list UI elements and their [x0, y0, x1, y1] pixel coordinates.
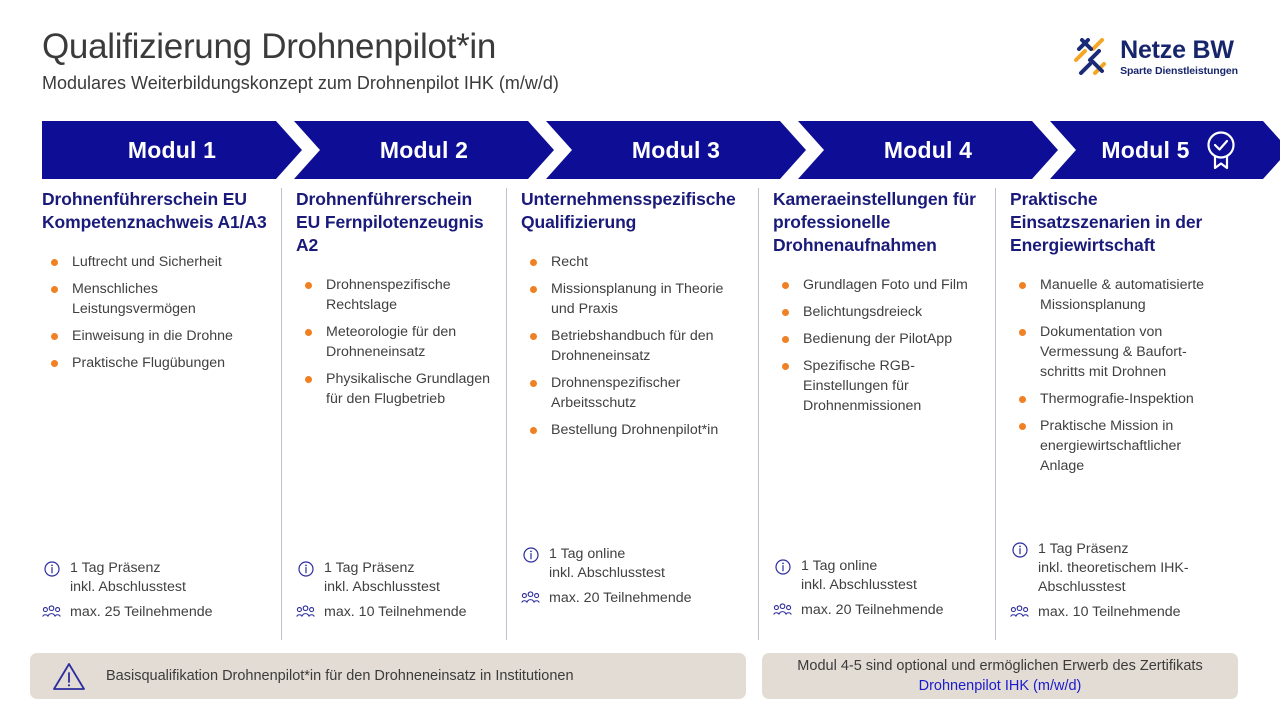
- people-group-icon: [773, 601, 792, 617]
- module-column-3: Unternehmensspezifische Qualifizierung R…: [506, 188, 758, 640]
- info-circle-icon: [521, 545, 540, 563]
- people-group-icon: [1010, 603, 1029, 619]
- list-item: Praktische Flugübungen: [42, 353, 267, 373]
- list-item: Bestellung Drohnenpilot*in: [521, 420, 744, 440]
- chevron-step-4-label: Modul 4: [884, 137, 972, 164]
- page-header: Qualifizierung Drohnenpilot*in Modulares…: [42, 26, 559, 95]
- chevron-step-2[interactable]: Modul 2: [294, 121, 554, 179]
- list-item: Grundlagen Foto und Film: [773, 275, 981, 295]
- module-column-5-topics: Manuelle & automatisierte Missionsplanun…: [1010, 275, 1224, 476]
- module-column-1-heading: Drohnenführerschein EU Kompetenznachweis…: [42, 188, 267, 234]
- participants-text: max. 20 Teilnehmende: [549, 589, 692, 608]
- module-columns: Drohnenführerschein EU Kompetenznachweis…: [42, 188, 1238, 640]
- list-item: Dokumentation von Vermessung & Baufort-s…: [1010, 322, 1224, 382]
- chevron-step-5-label: Modul 5: [1101, 137, 1189, 164]
- duration-row: 1 Tag Präsenz inkl. Abschlusstest: [42, 559, 267, 597]
- people-group-icon: [42, 603, 61, 619]
- list-item: Missionsplanung in Theorie und Praxis: [521, 279, 744, 319]
- info-circle-icon: [1010, 540, 1029, 558]
- list-item: Belichtungsdreieck: [773, 302, 981, 322]
- brand-logo: Netze BW Sparte Dienstleistungen: [1073, 38, 1238, 77]
- footer-right-text: Modul 4-5 sind optional und ermöglichen …: [762, 656, 1238, 696]
- chevron-step-4[interactable]: Modul 4: [798, 121, 1058, 179]
- duration-row: 1 Tag Präsenz inkl. theoretischem IHK-Ab…: [1010, 540, 1224, 597]
- page-subtitle: Modulares Weiterbildungskonzept zum Droh…: [42, 71, 559, 95]
- participants-text: max. 20 Teilnehmende: [801, 601, 944, 620]
- info-circle-icon: [42, 559, 61, 577]
- module-column-5-heading: Praktische Einsatzszenarien in der Energ…: [1010, 188, 1224, 257]
- list-item: Menschliches Leistungsvermögen: [42, 279, 267, 319]
- module-column-2: Drohnenführerschein EU Fernpilotenzeugni…: [281, 188, 506, 640]
- module-column-1: Drohnenführerschein EU Kompetenznachweis…: [42, 188, 281, 640]
- footer-right-lead: Modul 4-5 sind optional und ermöglichen …: [797, 658, 1202, 674]
- module-column-1-topics: Luftrecht und Sicherheit Menschliches Le…: [42, 252, 267, 373]
- list-item: Meteorologie für den Drohneneinsatz: [296, 322, 492, 362]
- list-item: Thermografie-Inspektion: [1010, 389, 1224, 409]
- duration-row: 1 Tag Präsenz inkl. Abschlusstest: [296, 559, 492, 597]
- participants-row: max. 10 Teilnehmende: [296, 603, 492, 622]
- module-column-3-meta: 1 Tag online inkl. Abschlusstest max. 20…: [521, 545, 744, 614]
- warning-triangle-icon: [52, 661, 86, 691]
- list-item: Einweisung in die Drohne: [42, 326, 267, 346]
- chevron-step-3[interactable]: Modul 3: [546, 121, 806, 179]
- participants-row: max. 10 Teilnehmende: [1010, 603, 1224, 622]
- duration-text: 1 Tag online inkl. Abschlusstest: [801, 557, 917, 595]
- module-column-2-heading: Drohnenführerschein EU Fernpilotenzeugni…: [296, 188, 492, 257]
- chevron-step-3-label: Modul 3: [632, 137, 720, 164]
- participants-row: max. 20 Teilnehmende: [521, 589, 744, 608]
- people-group-icon: [521, 589, 540, 605]
- list-item: Drohnenspezifische Rechtslage: [296, 275, 492, 315]
- participants-row: max. 25 Teilnehmende: [42, 603, 267, 622]
- list-item: Bedienung der PilotApp: [773, 329, 981, 349]
- module-column-3-topics: Recht Missionsplanung in Theorie und Pra…: [521, 252, 744, 440]
- people-group-icon: [296, 603, 315, 619]
- logo-tagline: Sparte Dienstleistungen: [1120, 66, 1238, 77]
- netze-bw-cross-icon: [1073, 38, 1111, 76]
- chevron-step-1[interactable]: Modul 1: [42, 121, 302, 179]
- list-item: Physikalische Grundlagen für den Flugbet…: [296, 369, 492, 409]
- list-item: Manuelle & automatisierte Missionsplanun…: [1010, 275, 1224, 315]
- footer-basisqualifikation-banner: Basisqualifikation Drohnenpilot*in für d…: [30, 653, 746, 699]
- list-item: Betriebshandbuch für den Drohneneinsatz: [521, 326, 744, 366]
- module-column-4-heading: Kameraeinstellungen für professionelle D…: [773, 188, 981, 257]
- duration-text: 1 Tag Präsenz inkl. theoretischem IHK-Ab…: [1038, 540, 1224, 597]
- module-chevron-banner: Modul 1 Modul 2 Modul 3 Modul 4 Modul 5: [42, 121, 1238, 179]
- footer-right-highlight: Drohnenpilot IHK (m/w/d): [919, 678, 1082, 694]
- list-item: Spezifische RGB-Einstellungen für Drohne…: [773, 356, 981, 416]
- module-column-4-meta: 1 Tag online inkl. Abschlusstest max. 20…: [773, 557, 981, 626]
- info-circle-icon: [773, 557, 792, 575]
- duration-text: 1 Tag online inkl. Abschlusstest: [549, 545, 665, 583]
- duration-row: 1 Tag online inkl. Abschlusstest: [773, 557, 981, 595]
- footer-optional-modules-banner: Modul 4-5 sind optional und ermöglichen …: [762, 653, 1238, 699]
- footer-left-text: Basisqualifikation Drohnenpilot*in für d…: [106, 666, 574, 686]
- module-column-3-heading: Unternehmensspezifische Qualifizierung: [521, 188, 744, 234]
- chevron-step-2-label: Modul 2: [380, 137, 468, 164]
- module-column-4: Kameraeinstellungen für professionelle D…: [758, 188, 995, 640]
- participants-row: max. 20 Teilnehmende: [773, 601, 981, 620]
- info-circle-icon: [296, 559, 315, 577]
- module-column-5: Praktische Einsatzszenarien in der Energ…: [995, 188, 1238, 640]
- list-item: Praktische Mission in energiewirtschaftl…: [1010, 416, 1224, 476]
- list-item: Recht: [521, 252, 744, 272]
- list-item: Luftrecht und Sicherheit: [42, 252, 267, 272]
- module-column-2-meta: 1 Tag Präsenz inkl. Abschlusstest max. 1…: [296, 559, 492, 628]
- module-column-1-meta: 1 Tag Präsenz inkl. Abschlusstest max. 2…: [42, 559, 267, 628]
- participants-text: max. 10 Teilnehmende: [1038, 603, 1181, 622]
- participants-text: max. 10 Teilnehmende: [324, 603, 467, 622]
- module-column-2-topics: Drohnenspezifische Rechtslage Meteorolog…: [296, 275, 492, 409]
- chevron-step-5[interactable]: Modul 5: [1050, 121, 1280, 179]
- chevron-step-1-label: Modul 1: [128, 137, 216, 164]
- duration-row: 1 Tag online inkl. Abschlusstest: [521, 545, 744, 583]
- list-item: Drohnenspezifischer Arbeitsschutz: [521, 373, 744, 413]
- logo-name: Netze BW: [1120, 38, 1238, 63]
- certificate-badge-icon: [1204, 130, 1238, 170]
- module-column-5-meta: 1 Tag Präsenz inkl. theoretischem IHK-Ab…: [1010, 540, 1224, 628]
- duration-text: 1 Tag Präsenz inkl. Abschlusstest: [70, 559, 186, 597]
- module-column-4-topics: Grundlagen Foto und Film Belichtungsdrei…: [773, 275, 981, 416]
- participants-text: max. 25 Teilnehmende: [70, 603, 213, 622]
- duration-text: 1 Tag Präsenz inkl. Abschlusstest: [324, 559, 440, 597]
- page-title: Qualifizierung Drohnenpilot*in: [42, 26, 559, 68]
